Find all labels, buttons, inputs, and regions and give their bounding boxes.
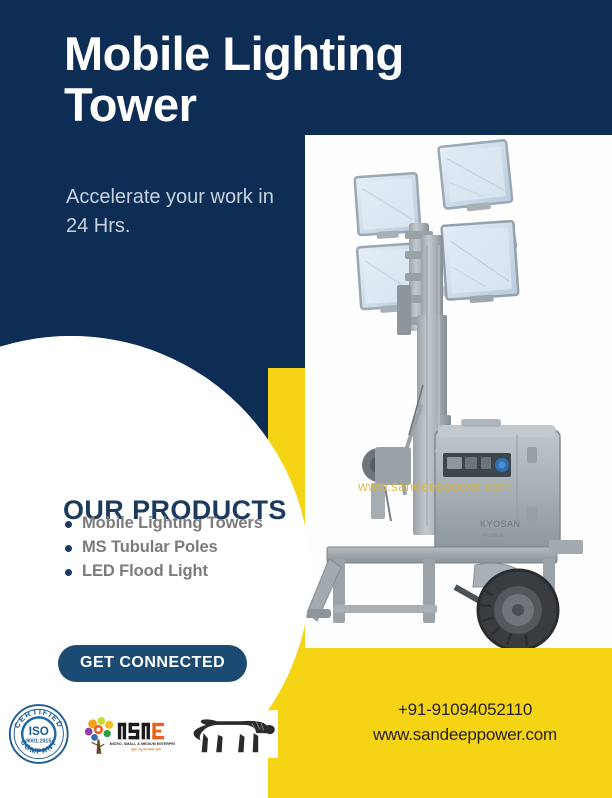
svg-text:MAKE IN INDIA: MAKE IN INDIA [211,727,254,733]
bullet-icon [65,521,72,528]
list-item: MS Tubular Poles [63,538,263,557]
products-list: Mobile Lighting Towers MS Tubular Poles … [63,514,263,586]
list-item: Mobile Lighting Towers [63,514,263,533]
certification-logos: CERTIFIED COMPANY ISO 9001:2015 [8,703,278,765]
list-item-label: MS Tubular Poles [82,538,218,556]
svg-text:MICRO, SMALL & MEDIUM ENTERPRI: MICRO, SMALL & MEDIUM ENTERPRISES [109,742,174,746]
page-title: Mobile Lighting Tower [64,29,494,131]
list-item-label: LED Flood Light [82,562,208,580]
svg-text:KYOSAN: KYOSAN [480,519,521,529]
iso-certified-icon: CERTIFIED COMPANY ISO 9001:2015 [8,703,70,765]
make-in-india-icon: MAKE IN INDIA [187,710,278,758]
product-photo-panel: KYOSAN POWER [305,135,612,648]
contact-website[interactable]: www.sandeeppower.com [330,725,600,745]
get-connected-button[interactable]: GET CONNECTED [58,645,247,682]
svg-text:ISO: ISO [29,725,49,738]
bullet-icon [65,545,72,552]
contact-block: +91-91094052110 www.sandeeppower.com [330,700,600,745]
mobile-lighting-tower-illustration: KYOSAN POWER [305,135,612,648]
svg-text:सूक्ष्म, लघु एवं मध्यम उद्यम: सूक्ष्म, लघु एवं मध्यम उद्यम [131,748,161,752]
list-item-label: Mobile Lighting Towers [82,514,263,532]
svg-text:9001:2015: 9001:2015 [26,739,51,745]
list-item: LED Flood Light [63,562,263,581]
poster-canvas: KYOSAN POWER [0,0,612,798]
bullet-icon [65,569,72,576]
contact-phone[interactable]: +91-91094052110 [330,700,600,720]
msme-icon: MICRO, SMALL & MEDIUM ENTERPRISES सूक्ष्… [78,711,175,757]
page-subtitle: Accelerate your work in 24 Hrs. [66,183,286,241]
svg-text:POWER: POWER [483,533,504,539]
